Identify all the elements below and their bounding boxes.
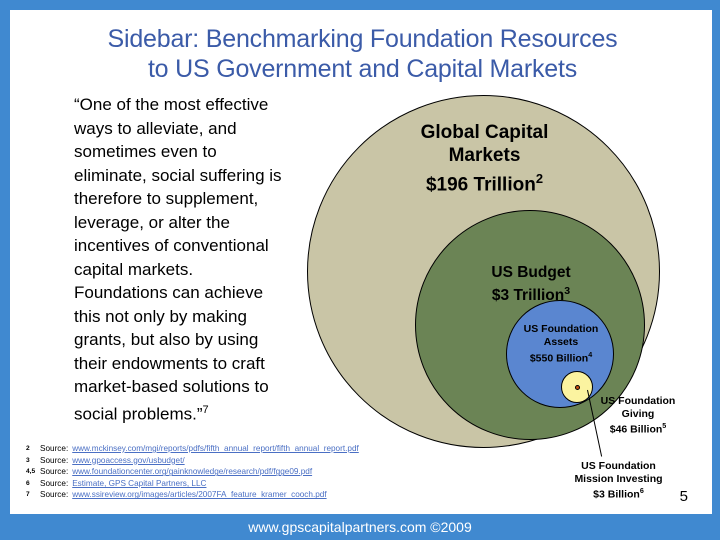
footnote-link[interactable]: www.gpoaccess.gov/usbudget/ <box>72 455 184 467</box>
callout-mission-line1: US Foundation <box>581 460 656 472</box>
footnote-source-label: Source: <box>40 443 72 455</box>
footnote-source-label: Source: <box>40 478 72 490</box>
footnote-link[interactable]: www.foundationcenter.org/gainknowledge/r… <box>72 466 312 478</box>
circle-us-foundation-mission-investing <box>575 385 580 390</box>
footnote-number: 3 <box>26 455 40 467</box>
footnote-row: 4,5 Source: www.foundationcenter.org/gai… <box>26 466 566 478</box>
callout-giving-footnote-ref: 5 <box>662 422 666 430</box>
budget-label-line1: US Budget <box>491 264 570 281</box>
circle-us-foundation-assets-label: US Foundation Assets $550 Billion4 <box>501 323 621 366</box>
callout-giving-line1: US Foundation <box>601 395 676 407</box>
assets-label-line1: US Foundation <box>524 323 599 335</box>
circle-global-capital-markets-label: Global Capital Markets $196 Trillion2 <box>308 121 661 196</box>
footnote-link[interactable]: www.ssireview.org/images/articles/2007FA… <box>72 489 326 501</box>
callout-giving-line2: Giving <box>622 408 655 420</box>
global-label-line2: Markets <box>449 145 521 166</box>
page-title: Sidebar: Benchmarking Foundation Resourc… <box>40 24 685 84</box>
global-footnote-ref: 2 <box>536 171 543 186</box>
footer-text: www.gpscapitalpartners.com ©2009 <box>248 519 472 535</box>
assets-value: $550 Billion <box>530 353 588 365</box>
footnote-source-label: Source: <box>40 466 72 478</box>
global-label-line1: Global Capital <box>421 122 549 143</box>
callout-mission-value: $3 Billion <box>593 489 640 501</box>
footnote-source-label: Source: <box>40 455 72 467</box>
callout-us-foundation-mission-investing: US Foundation Mission Investing $3 Billi… <box>561 460 676 501</box>
callout-giving-value: $46 Billion <box>610 424 663 436</box>
footnote-row: 6 Source: Estimate, GPS Capital Partners… <box>26 478 566 490</box>
page-title-line2: to US Government and Capital Markets <box>148 55 577 83</box>
assets-label-line2: Assets <box>544 336 578 348</box>
footnote-link[interactable]: Estimate, GPS Capital Partners, LLC <box>72 478 206 490</box>
footer-bar: www.gpscapitalpartners.com ©2009 <box>0 514 720 540</box>
footnote-row: 7 Source: www.ssireview.org/images/artic… <box>26 489 566 501</box>
slide-canvas: Sidebar: Benchmarking Foundation Resourc… <box>10 10 712 514</box>
footnote-number: 7 <box>26 489 40 501</box>
callout-us-foundation-giving: US Foundation Giving $46 Billion5 <box>588 395 688 436</box>
slide-frame: Sidebar: Benchmarking Foundation Resourc… <box>0 0 720 540</box>
page-number: 5 <box>680 488 688 505</box>
quote-block: “One of the most effective ways to allev… <box>74 93 289 426</box>
callout-mission-footnote-ref: 6 <box>640 487 644 495</box>
footnote-link[interactable]: www.mckinsey.com/mgi/reports/pdfs/fifth_… <box>72 443 359 455</box>
assets-footnote-ref: 4 <box>588 351 592 359</box>
footnote-row: 3 Source: www.gpoaccess.gov/usbudget/ <box>26 455 566 467</box>
footnote-row: 2 Source: www.mckinsey.com/mgi/reports/p… <box>26 443 566 455</box>
budget-footnote-ref: 3 <box>564 285 570 297</box>
callout-mission-line2: Mission Investing <box>574 473 662 485</box>
footnote-source-label: Source: <box>40 489 72 501</box>
quote-text: “One of the most effective ways to allev… <box>74 95 282 423</box>
page-title-line1: Sidebar: Benchmarking Foundation Resourc… <box>108 25 618 53</box>
footnote-list: 2 Source: www.mckinsey.com/mgi/reports/p… <box>26 443 566 501</box>
footnote-number: 4,5 <box>26 466 40 478</box>
footnote-number: 2 <box>26 443 40 455</box>
quote-footnote-ref: 7 <box>203 404 209 416</box>
circle-us-foundation-assets: US Foundation Assets $550 Billion4 <box>506 300 614 408</box>
footnote-number: 6 <box>26 478 40 490</box>
global-value: $196 Trillion <box>426 174 536 195</box>
circle-us-budget-label: US Budget $3 Trillion3 <box>416 263 646 305</box>
